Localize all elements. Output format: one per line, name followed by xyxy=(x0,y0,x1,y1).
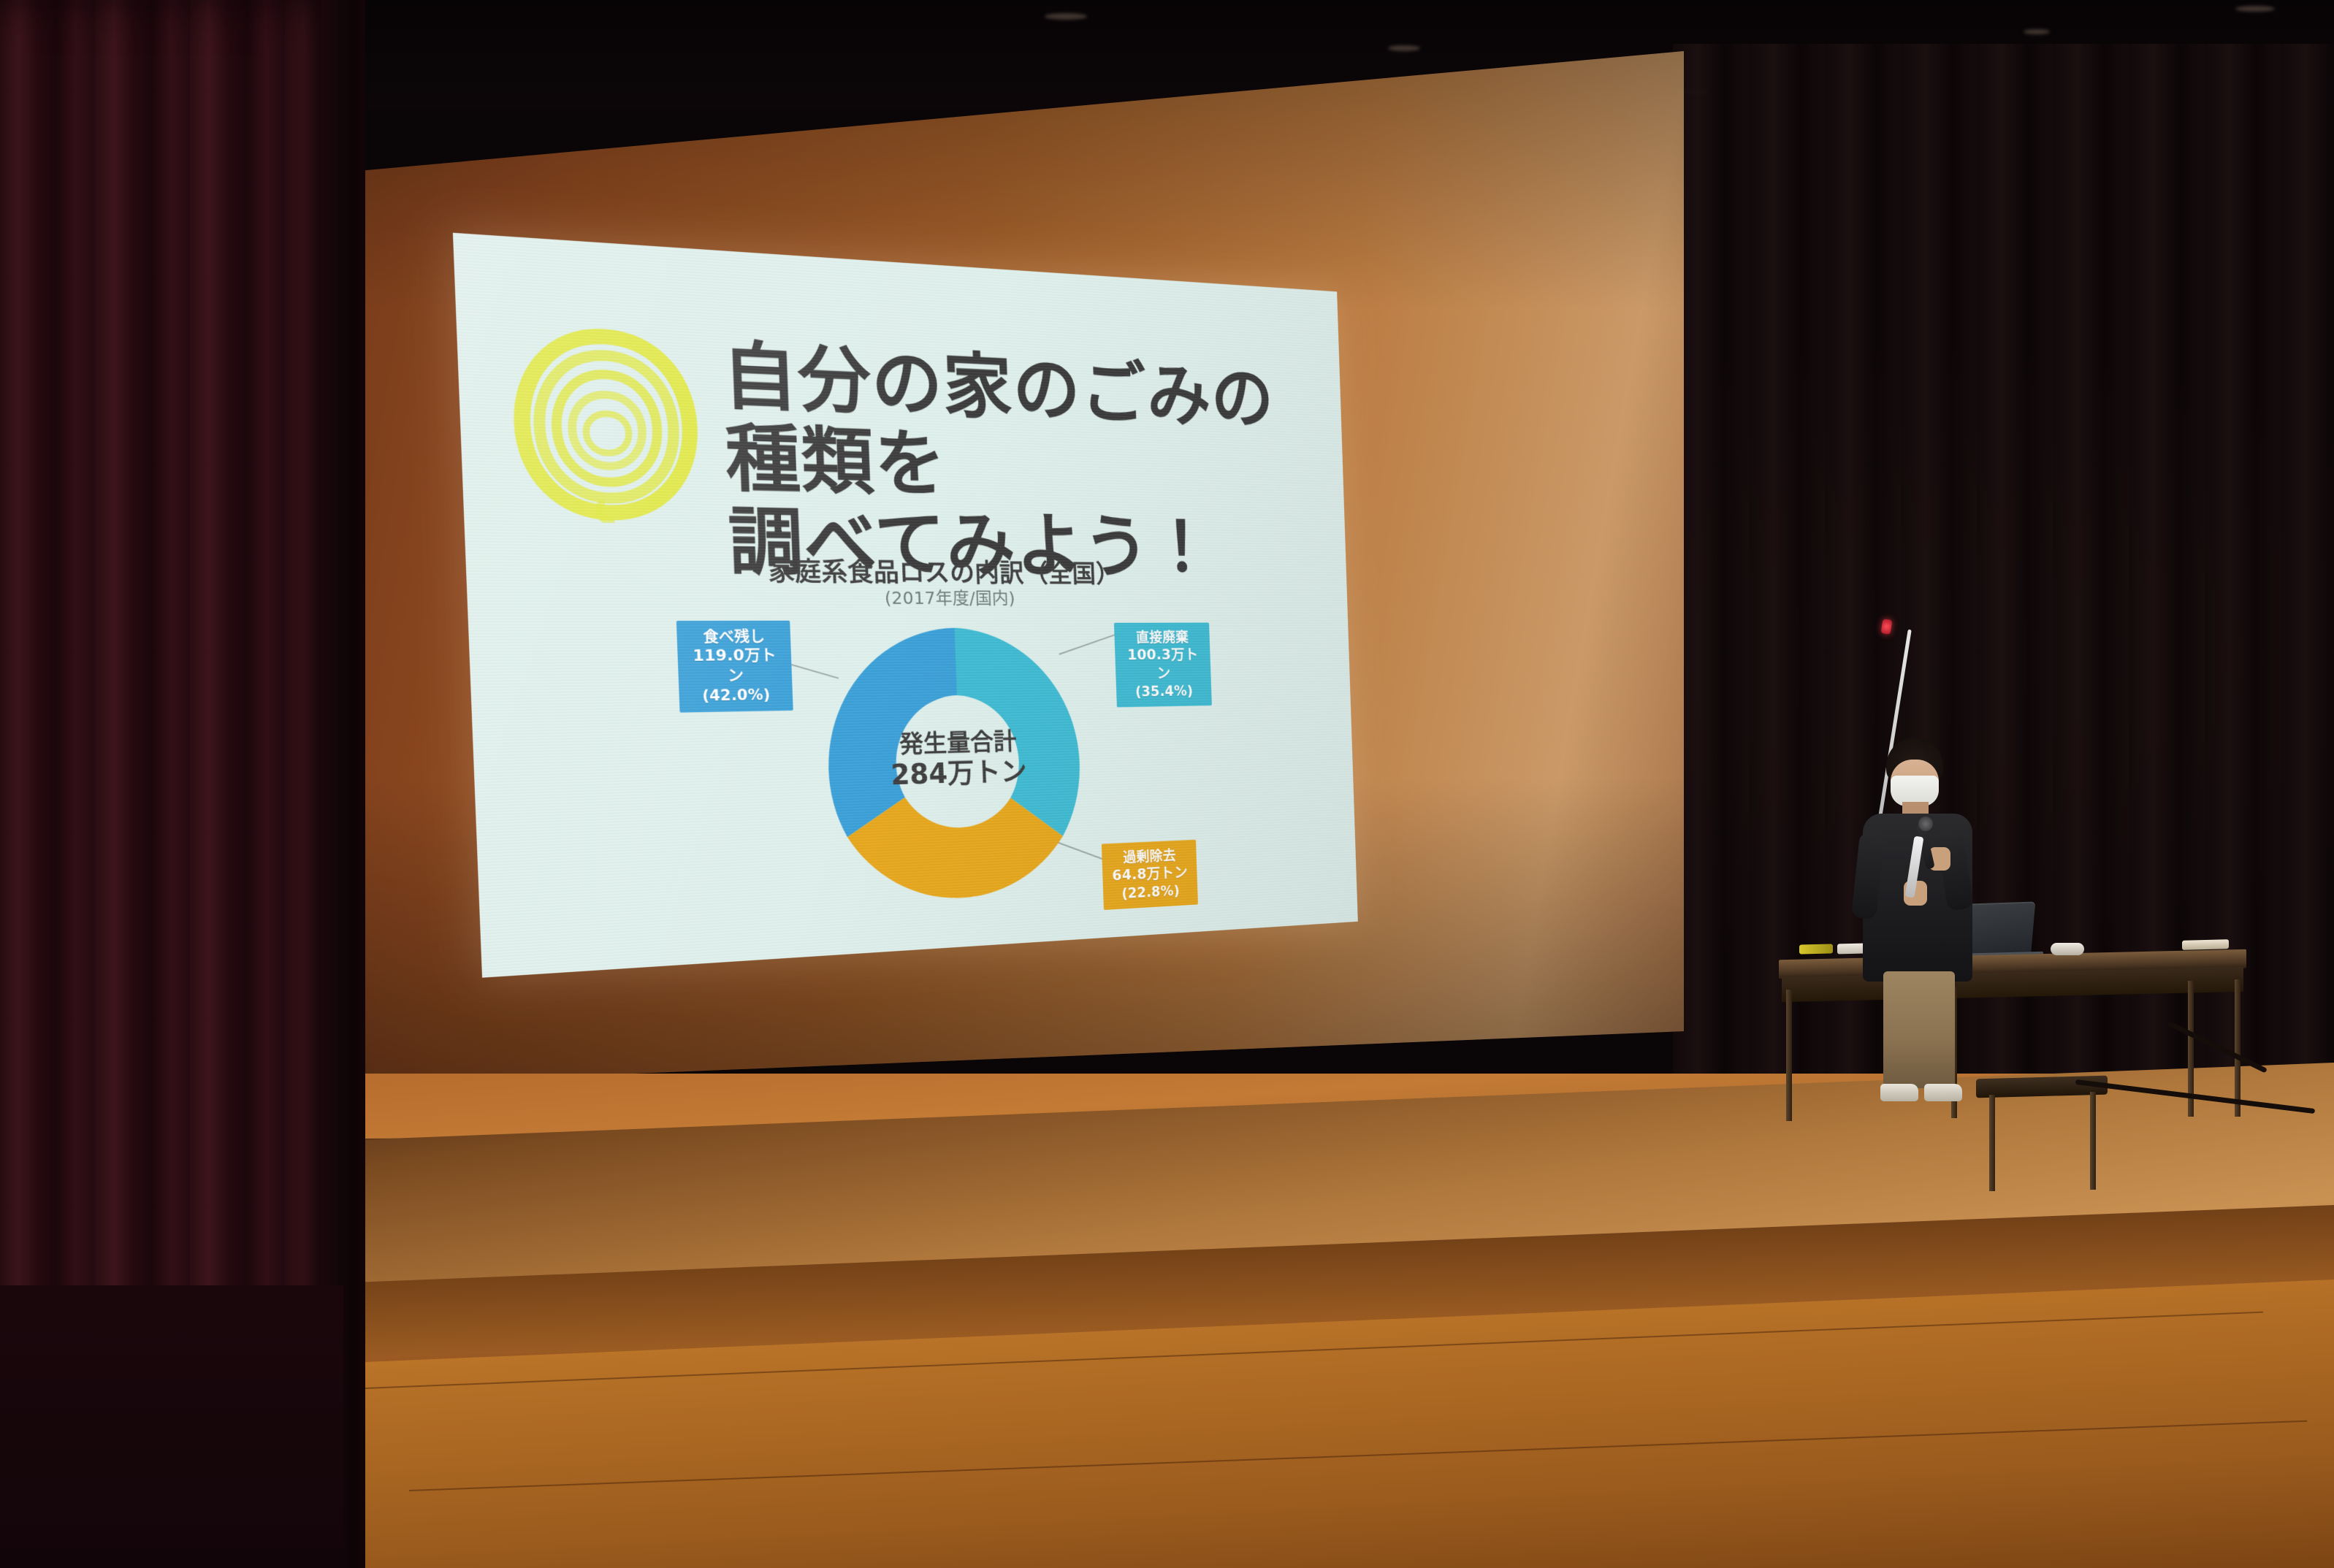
stool-leg xyxy=(1989,1095,1995,1191)
stool xyxy=(1976,1077,2108,1194)
chart-subtitle: (2017年度/国内) xyxy=(630,584,1236,610)
chart-callout-kajo-jokyo: 過剰除去 64.8万トン (22.8%) xyxy=(1102,840,1198,910)
highlighter-marker[interactable] xyxy=(1799,944,1833,954)
chart-callout-tabenokoshi: 食べ残し 119.0万トン (42.0%) xyxy=(676,621,793,713)
stage-left-shadow xyxy=(0,1285,343,1568)
projected-slide: 自分の家のごみの種類を 調べてみよう！ 家庭系食品ロスの内訳（全国） (2017… xyxy=(453,233,1358,978)
callout-percent-2: (22.8%) xyxy=(1110,881,1192,903)
microphone-head-icon xyxy=(1918,816,1933,831)
auditorium-scene: 自分の家のごみの種類を 調べてみよう！ 家庭系食品ロスの内訳（全国） (2017… xyxy=(0,0,2334,1568)
computer-mouse[interactable] xyxy=(2051,943,2084,955)
callout-value-1: 100.3万トン xyxy=(1121,646,1205,684)
table-leg xyxy=(1786,990,1792,1121)
presenter-trousers xyxy=(1883,971,1955,1088)
stool-seat xyxy=(1976,1076,2108,1098)
callout-value-0: 119.0万トン xyxy=(684,646,785,687)
donut-chart: 家庭系食品ロスの内訳（全国） (2017年度/国内) xyxy=(629,548,1247,953)
slide-title: 自分の家のごみの種類を 調べてみよう！ xyxy=(721,334,1327,586)
presenter-shoe-right xyxy=(1924,1084,1962,1101)
presenter xyxy=(1848,738,1987,1103)
cabbage-illustration xyxy=(503,321,709,524)
chart-callout-chokusetsu-haiki: 直接廃棄 100.3万トン (35.4%) xyxy=(1114,623,1212,708)
callout-name-1: 直接廃棄 xyxy=(1121,629,1204,647)
stool-leg xyxy=(2090,1092,2096,1190)
callout-percent-1: (35.4%) xyxy=(1122,682,1205,701)
presenter-shoe-left xyxy=(1880,1084,1918,1101)
callout-name-0: 食べ残し xyxy=(684,627,783,646)
callout-percent-0: (42.0%) xyxy=(686,686,785,706)
remote-control[interactable] xyxy=(2182,939,2229,950)
slide-title-line-1: 自分の家のごみの種類を xyxy=(721,334,1324,513)
table-leg xyxy=(2235,979,2240,1117)
donut-graphic xyxy=(817,617,1094,911)
